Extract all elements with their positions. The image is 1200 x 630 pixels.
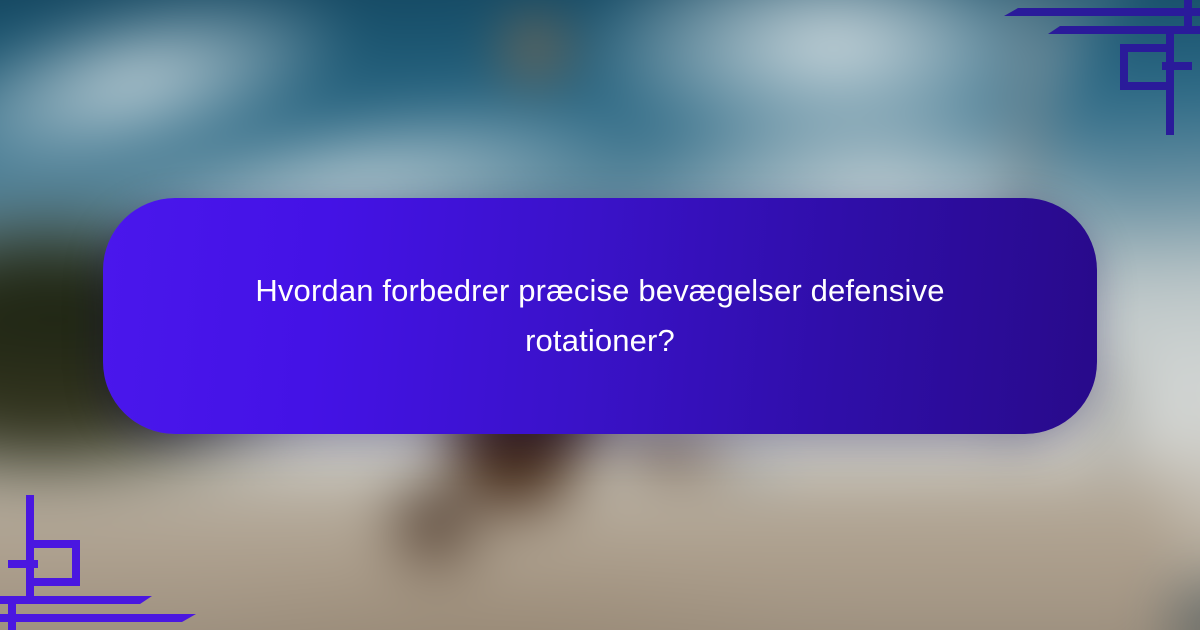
question-card: Hvordan forbedrer præcise bevægelser def… bbox=[103, 198, 1097, 434]
poster-canvas: Hvordan forbedrer præcise bevægelser def… bbox=[0, 0, 1200, 630]
question-text: Hvordan forbedrer præcise bevægelser def… bbox=[210, 266, 990, 366]
volleyball bbox=[505, 18, 566, 79]
